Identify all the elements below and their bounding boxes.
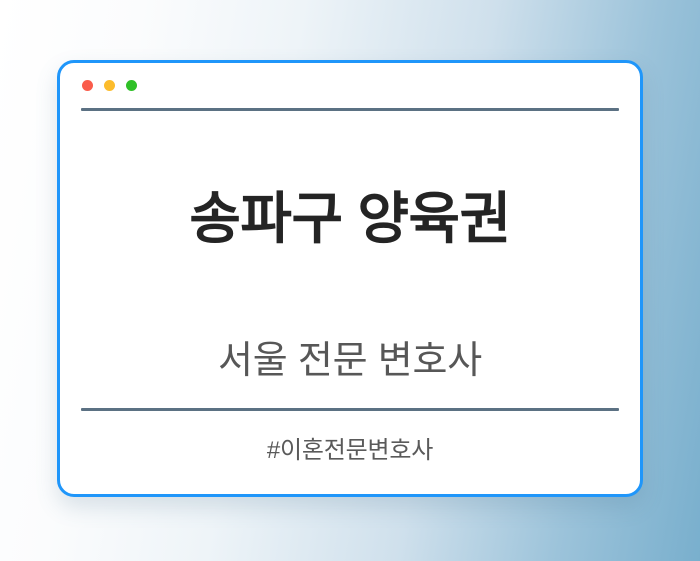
poster-canvas: 송파구 양육권 서울 전문 변호사 #이혼전문변호사 xyxy=(0,0,700,561)
page-title: 송파구 양육권 xyxy=(60,187,640,251)
minimize-dot[interactable] xyxy=(104,80,115,91)
close-dot[interactable] xyxy=(82,80,93,91)
maximize-dot[interactable] xyxy=(126,80,137,91)
browser-card: 송파구 양육권 서울 전문 변호사 #이혼전문변호사 xyxy=(57,60,643,497)
card-content: 송파구 양육권 서울 전문 변호사 #이혼전문변호사 xyxy=(60,111,640,494)
divider-bottom xyxy=(81,408,619,411)
hashtag-label: #이혼전문변호사 xyxy=(60,437,640,466)
window-controls xyxy=(82,80,137,91)
page-subtitle: 서울 전문 변호사 xyxy=(60,339,640,385)
